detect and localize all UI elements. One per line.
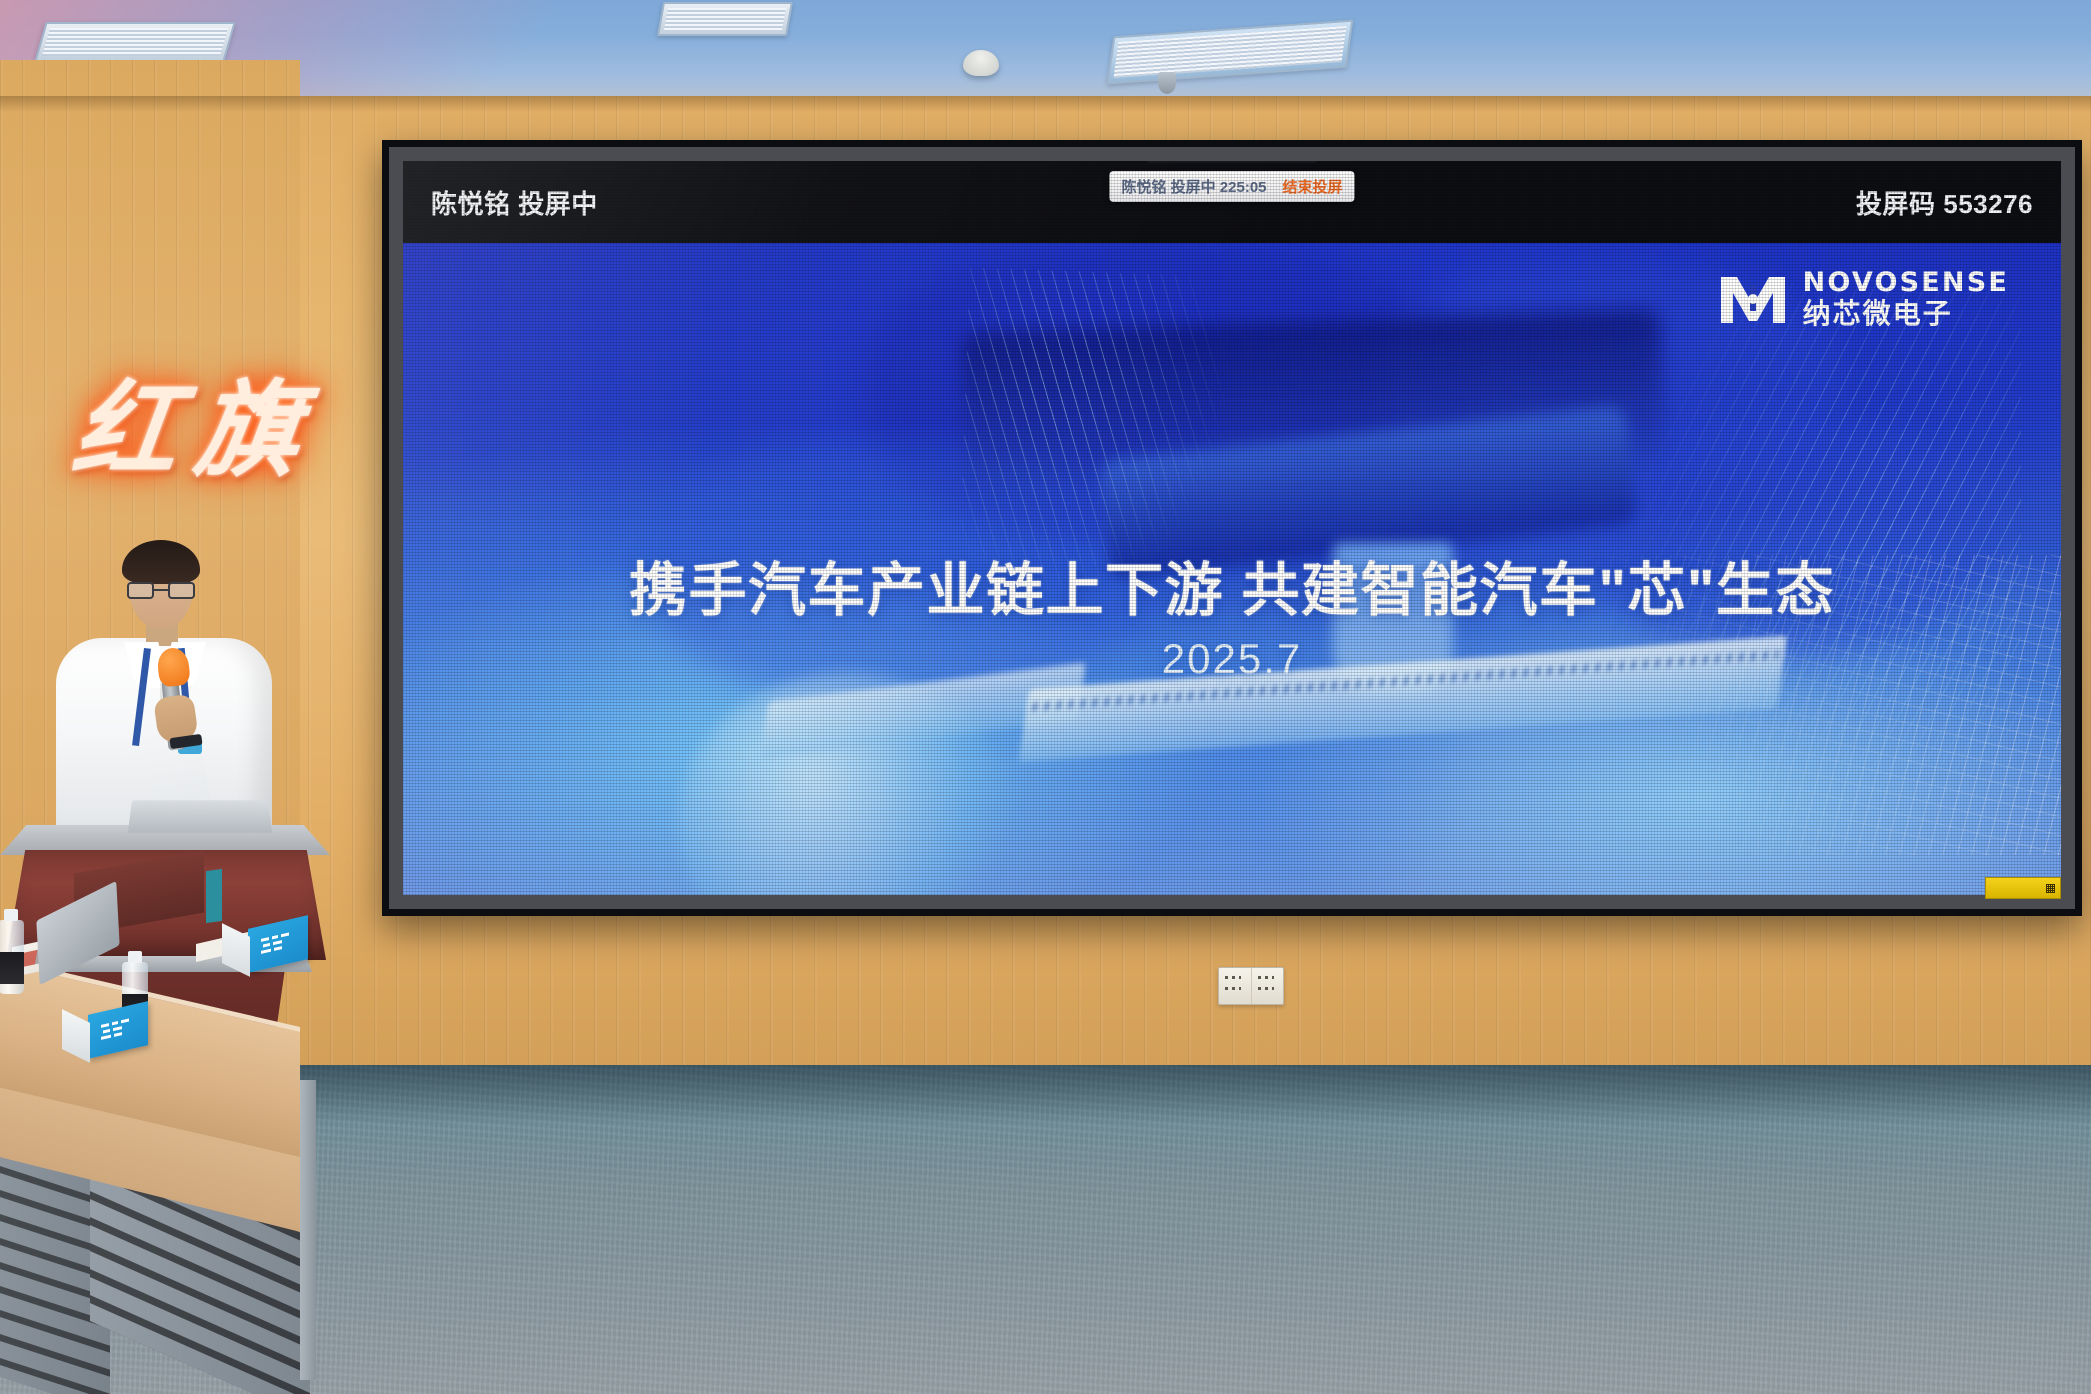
cast-presenter-status: 陈悦铭 投屏中: [431, 184, 598, 221]
podium-laptop[interactable]: [128, 800, 272, 832]
cast-overlay-pill[interactable]: 陈悦铭 投屏中 225:05 结束投屏: [1109, 171, 1354, 202]
slide-title-block: 携手汽车产业链上下游 共建智能汽车"芯"生态 2025.7: [403, 543, 2061, 683]
foreground-teal-object: [206, 869, 222, 923]
slide-date: 2025.7: [403, 635, 2061, 683]
wall-top-shadow: [0, 96, 2091, 112]
logo-chinese: 纳芯微电子: [1803, 300, 2009, 328]
screen-corner-sticker: [1985, 877, 2061, 899]
novosense-logo: NOVOSENSE 纳芯微电子: [1717, 269, 2009, 328]
name-tent-card: [88, 1008, 148, 1056]
air-vent-icon: [657, 2, 793, 36]
front-desk-leg: [300, 1080, 316, 1380]
conference-room-scene: 红 旗: [0, 0, 2091, 1394]
end-cast-button[interactable]: 结束投屏: [1283, 176, 1343, 197]
presenter-glasses-icon: [126, 582, 196, 599]
presenter-hair: [122, 540, 200, 584]
logo-text: NOVOSENSE 纳芯微电子: [1803, 269, 2009, 328]
power-outlet-socket[interactable]: [1219, 968, 1251, 1004]
power-outlet[interactable]: [1218, 967, 1284, 1005]
ceiling-mount-hook: [1158, 72, 1176, 94]
neon-char-2: 旗: [190, 378, 307, 482]
power-outlet-socket[interactable]: [1251, 968, 1284, 1004]
cast-overlay-status: 陈悦铭 投屏中 225:05: [1121, 176, 1266, 197]
screen-surface[interactable]: NOVOSENSE 纳芯微电子 携手汽车产业链上下游 共建智能汽车"芯"生态 2…: [403, 161, 2061, 895]
name-tent-card: [248, 922, 308, 970]
water-bottle[interactable]: [0, 920, 24, 994]
smoke-detector-icon: [963, 50, 999, 76]
air-vent-icon: [34, 22, 235, 62]
cast-pill-notch: [1147, 161, 1317, 163]
neon-sign-hongqi: 红 旗: [62, 360, 312, 500]
cast-code-label: 投屏码 553276: [1856, 184, 2033, 221]
neon-char-1: 红: [68, 378, 185, 482]
led-display-screen[interactable]: NOVOSENSE 纳芯微电子 携手汽车产业链上下游 共建智能汽车"芯"生态 2…: [382, 140, 2082, 916]
novosense-chevron-icon: [1717, 271, 1789, 327]
air-vent-icon: [1107, 20, 1354, 85]
slide-title: 携手汽车产业链上下游 共建智能汽车"芯"生态: [403, 543, 2061, 627]
logo-english: NOVOSENSE: [1803, 269, 2009, 296]
presentation-slide: NOVOSENSE 纳芯微电子 携手汽车产业链上下游 共建智能汽车"芯"生态 2…: [403, 243, 2061, 895]
